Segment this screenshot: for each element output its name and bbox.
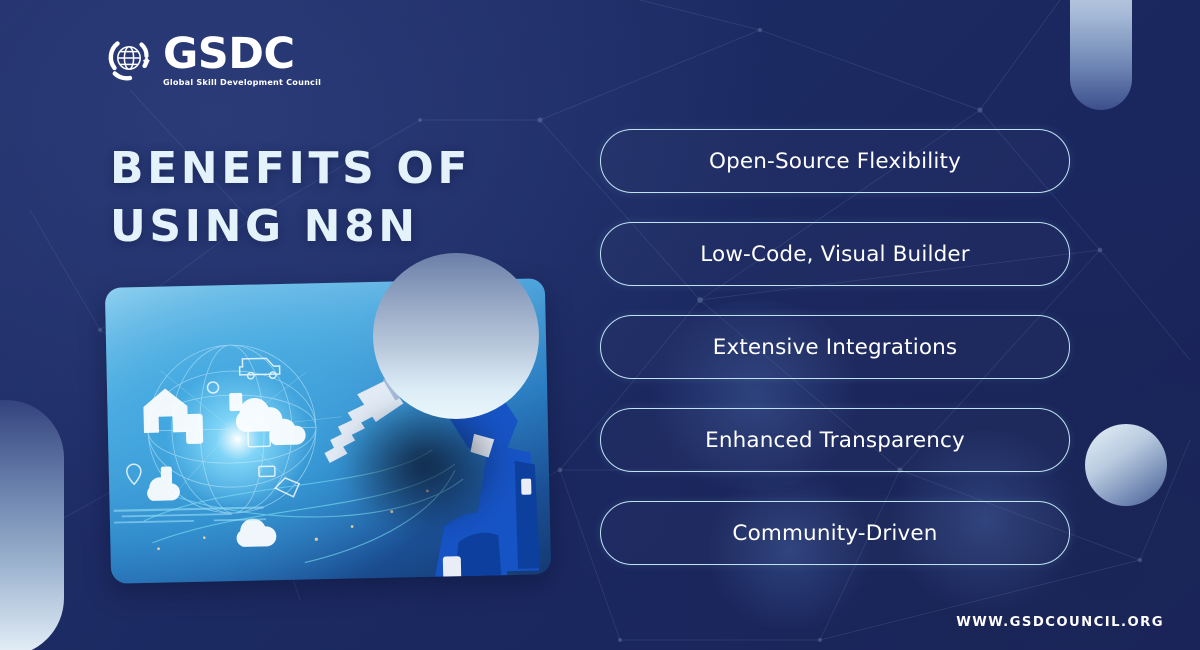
benefit-label-3: Extensive Integrations (713, 335, 958, 360)
globe-icon (104, 34, 156, 86)
benefit-label-4: Enhanced Transparency (705, 428, 965, 453)
benefits-list: Open-Source Flexibility Low-Code, Visual… (600, 129, 1070, 565)
page-title-line-2: USING N8N (110, 198, 570, 256)
website-url[interactable]: WWW.GSDCOUNCIL.ORG (956, 615, 1164, 630)
logo-tagline: Global Skill Development Council (163, 77, 321, 87)
benefit-label-5: Community-Driven (732, 521, 937, 546)
benefit-item-1[interactable]: Open-Source Flexibility (600, 129, 1070, 193)
gradient-circle-overlay (373, 253, 539, 419)
gsdc-logo[interactable]: GSDC Global Skill Development Council (104, 33, 321, 87)
decorative-bar-top-right (1070, 0, 1132, 110)
page-title: BENEFITS OF USING N8N (110, 140, 570, 256)
photo-depth-blur (337, 393, 510, 537)
decorative-bar-left (0, 400, 64, 650)
page-title-line-1: BENEFITS OF (110, 140, 570, 198)
logo-wordmark: GSDC (163, 33, 295, 75)
decorative-circle-right (1085, 424, 1167, 506)
poster-canvas: GSDC Global Skill Development Council BE… (0, 0, 1200, 650)
benefit-item-5[interactable]: Community-Driven (600, 501, 1070, 565)
benefit-item-3[interactable]: Extensive Integrations (600, 315, 1070, 379)
benefit-item-2[interactable]: Low-Code, Visual Builder (600, 222, 1070, 286)
benefit-label-1: Open-Source Flexibility (709, 149, 961, 174)
benefit-label-2: Low-Code, Visual Builder (700, 242, 969, 267)
benefit-item-4[interactable]: Enhanced Transparency (600, 408, 1070, 472)
